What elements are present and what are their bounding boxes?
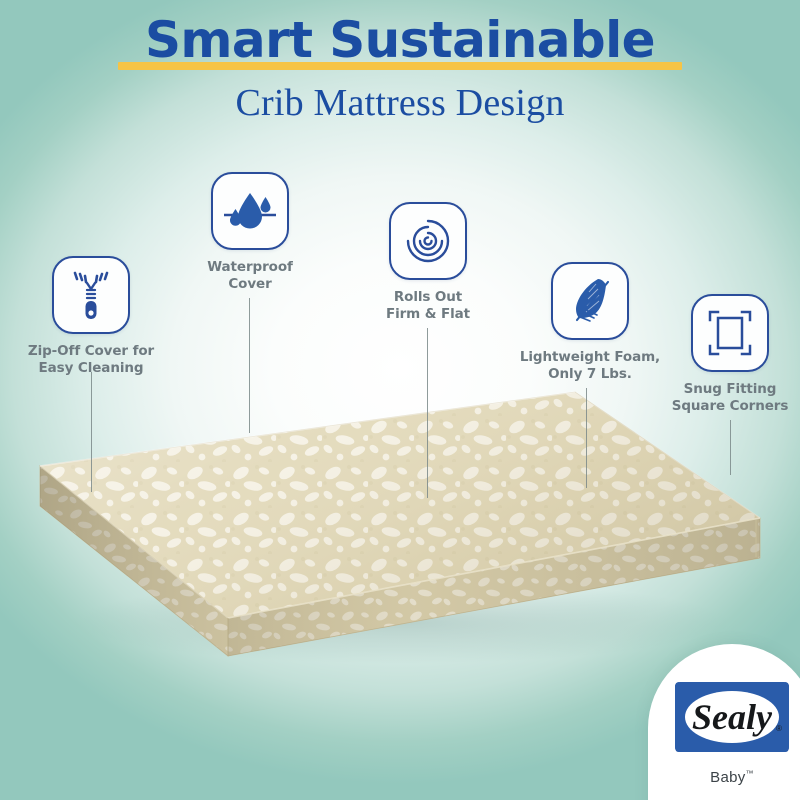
leader-line-foam xyxy=(586,388,587,488)
feature-label-lightweight-foam: Lightweight Foam, Only 7 Lbs. xyxy=(506,349,674,384)
water-droplet-icon-box[interactable] xyxy=(211,172,289,250)
feather-icon xyxy=(566,275,614,327)
page-subtitle: Crib Mattress Design xyxy=(0,81,800,125)
feature-rolls-out[interactable]: Rolls Out Firm & Flat xyxy=(348,202,508,324)
leader-line-waterproof xyxy=(249,298,250,433)
feather-icon-box[interactable] xyxy=(551,262,629,340)
svg-text:®: ® xyxy=(776,724,782,733)
sealy-wordmark: Sealy xyxy=(692,697,773,737)
crib-mattress-image xyxy=(0,370,800,680)
spiral-roll-icon xyxy=(403,216,453,266)
title-underline-bar xyxy=(118,62,682,70)
page-title: Smart Sustainable xyxy=(139,14,661,67)
sealy-logo-mark: Sealy ® xyxy=(671,674,793,760)
zipper-icon-box[interactable] xyxy=(52,256,130,334)
sealy-baby-text: Baby xyxy=(710,769,745,786)
spiral-roll-icon-box[interactable] xyxy=(389,202,467,280)
feature-label-zip-off-cover: Zip-Off Cover for Easy Cleaning xyxy=(11,343,171,378)
trademark-symbol: ™ xyxy=(746,769,754,778)
zipper-icon xyxy=(66,268,116,322)
feature-label-rolls-out: Rolls Out Firm & Flat xyxy=(348,289,508,324)
sealy-logo-inner: Sealy ® Baby™ xyxy=(648,674,800,786)
feature-waterproof-cover[interactable]: Waterproof Cover xyxy=(170,172,330,294)
feature-zip-off-cover[interactable]: Zip-Off Cover for Easy Cleaning xyxy=(11,256,171,378)
leader-line-corners xyxy=(730,420,731,475)
feature-label-square-corners: Snug Fitting Square Corners xyxy=(650,381,800,416)
square-corners-icon-box[interactable] xyxy=(691,294,769,372)
feature-square-corners[interactable]: Snug Fitting Square Corners xyxy=(650,294,800,416)
feature-label-waterproof-cover: Waterproof Cover xyxy=(170,259,330,294)
leader-line-zip xyxy=(91,372,92,492)
poster-canvas: Smart Sustainable Crib Mattress Design xyxy=(0,0,800,800)
leader-line-rolls xyxy=(427,328,428,498)
water-droplet-icon xyxy=(223,187,277,235)
square-corners-icon xyxy=(705,307,755,359)
sealy-baby-subbrand: Baby™ xyxy=(648,769,800,786)
feature-lightweight-foam[interactable]: Lightweight Foam, Only 7 Lbs. xyxy=(506,262,674,384)
